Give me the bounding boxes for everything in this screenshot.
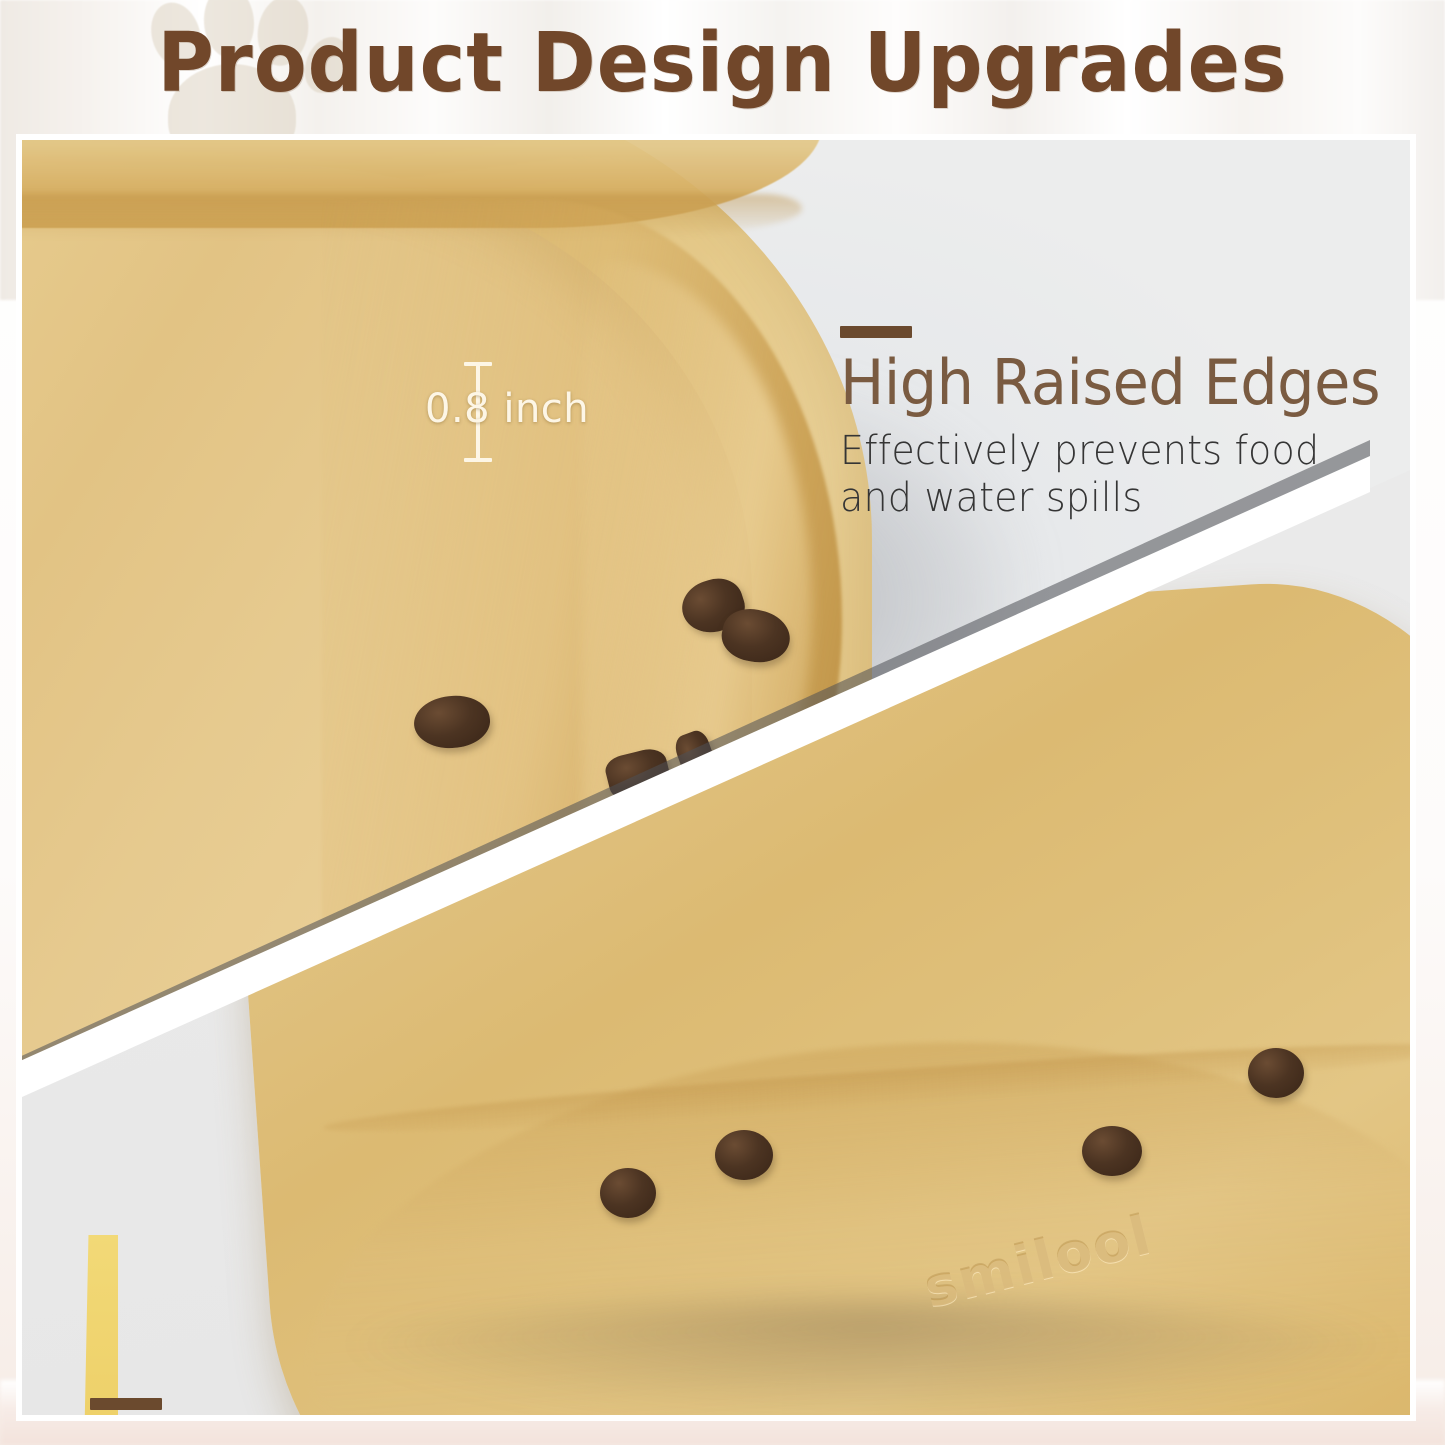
callout-headline: High Raised Edges: [840, 350, 1380, 416]
callout-subline-line1: Effectively prevents food: [840, 428, 1380, 475]
callout-subline-line2: and water spills: [840, 475, 1380, 522]
infographic-canvas: Product Design Upgrades 0.8 inch: [0, 0, 1445, 1445]
callout-keeping-floor-clean: Keeping the floor clean Minimizes time s…: [90, 1398, 1044, 1415]
dimension-annotation: 0.8 inch: [440, 362, 590, 472]
kibble-piece: [1248, 1048, 1304, 1098]
kibble-piece: [600, 1168, 656, 1218]
kibble-piece: [715, 1130, 773, 1180]
page-title: Product Design Upgrades: [43, 16, 1401, 111]
kibble-piece: [1082, 1126, 1142, 1176]
dimension-cap-bottom: [464, 458, 492, 462]
callout-dash-icon: [840, 326, 912, 338]
product-photo-panel: 0.8 inch smilool High Raised Edges Effec…: [22, 140, 1410, 1415]
dimension-label: 0.8 inch: [425, 386, 589, 432]
callout-high-raised-edges: High Raised Edges Effectively prevents f…: [840, 326, 1408, 522]
callout-subline: Effectively prevents food and water spil…: [840, 428, 1380, 522]
callout-dash-icon: [90, 1398, 162, 1410]
